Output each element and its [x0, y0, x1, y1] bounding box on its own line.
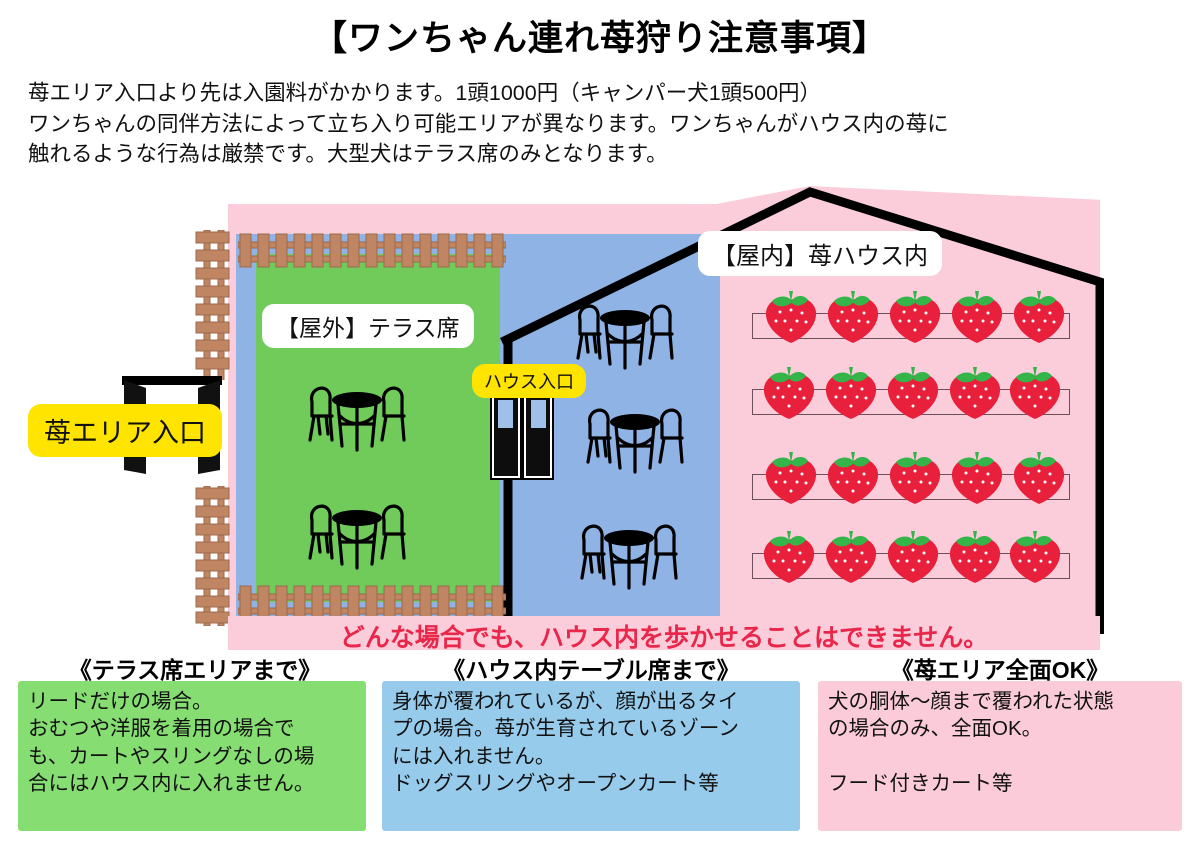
- strawberry-icon: [1008, 288, 1070, 344]
- strawberry-icon: [946, 449, 1008, 505]
- farm-map-diagram: 【屋外】テラス席 【屋内】苺ハウス内 苺エリア入口 ハウス入口: [0, 186, 1200, 656]
- strawberry-icon: [944, 364, 1006, 420]
- legend-line: [828, 743, 1174, 770]
- strawberry-icon: [820, 528, 882, 584]
- label-strawberry-area-entrance: 苺エリア入口: [28, 404, 222, 457]
- legend-body: 身体が覆われているが、顔が出るタイ プの場合。苺が生育されているゾーン には入れ…: [382, 686, 800, 797]
- house-door-icon: [490, 388, 554, 480]
- legend-body: リードだけの場合。 おむつや洋服を着用の場合で も、カートやスリングなしの場 合…: [18, 686, 366, 797]
- strawberry-icon: [1004, 364, 1066, 420]
- legend: 《テラス席エリアまで》 リードだけの場合。 おむつや洋服を着用の場合で も、カー…: [0, 656, 1200, 848]
- fence-top-icon: [238, 230, 506, 270]
- table-set-icon: [570, 506, 688, 594]
- intro-line-3: 触れるような行為は厳禁です。大型犬はテラス席のみとなります。: [28, 139, 1178, 170]
- strawberry-icon: [758, 528, 820, 584]
- strawberry-icon: [882, 528, 944, 584]
- strawberry-icon: [760, 288, 822, 344]
- strawberry-icon: [820, 364, 882, 420]
- fence-left-lower-icon: [192, 486, 232, 626]
- strawberry-icon: [944, 528, 1006, 584]
- strawberry-icon: [1004, 528, 1066, 584]
- legend-line: 犬の胴体〜顔まで覆われた状態: [828, 688, 1174, 715]
- legend-heading: 《テラス席エリアまで》: [24, 656, 366, 682]
- legend-line: リードだけの場合。: [28, 688, 358, 715]
- table-set-icon: [566, 286, 684, 374]
- strawberry-icon: [884, 449, 946, 505]
- strawberry-icon: [1008, 449, 1070, 505]
- legend-line: ドッグスリングやオープンカート等: [392, 770, 792, 797]
- page-title: 【ワンちゃん連れ苺狩り注意事項】: [0, 10, 1200, 61]
- strawberry-icon: [882, 364, 944, 420]
- legend-body: 犬の胴体〜顔まで覆われた状態 の場合のみ、全面OK。 フード付きカート等: [818, 686, 1182, 797]
- table-set-icon: [576, 390, 694, 478]
- legend-line: には入れません。: [392, 743, 792, 770]
- table-set-icon: [298, 368, 416, 456]
- strawberry-icon: [946, 288, 1008, 344]
- legend-line: プの場合。苺が生育されているゾーン: [392, 715, 792, 742]
- strawberry-icon: [822, 288, 884, 344]
- warning-text: どんな場合でも、ハウス内を歩かせることはできません。: [228, 618, 1100, 654]
- strawberry-icon: [758, 364, 820, 420]
- legend-line: の場合のみ、全面OK。: [828, 715, 1174, 742]
- label-outdoor-terrace: 【屋外】テラス席: [262, 304, 474, 348]
- fence-left-upper-icon: [192, 230, 232, 380]
- legend-line: フード付きカート等: [828, 770, 1174, 797]
- legend-card-indoor-tables: 《ハウス内テーブル席まで》 身体が覆われているが、顔が出るタイ プの場合。苺が生…: [382, 656, 800, 848]
- intro-text: 苺エリア入口より先は入園料がかかります。1頭1000円（キャンパー犬1頭500円…: [28, 78, 1178, 170]
- intro-line-2: ワンちゃんの同伴方法によって立ち入り可能エリアが異なります。ワンちゃんがハウス内…: [28, 109, 1178, 140]
- strawberry-icon: [760, 449, 822, 505]
- legend-line: も、カートやスリングなしの場: [28, 743, 358, 770]
- table-set-icon: [298, 486, 416, 574]
- legend-card-full-area: 《苺エリア全面OK》 犬の胴体〜顔まで覆われた状態 の場合のみ、全面OK。 フー…: [818, 656, 1182, 848]
- intro-line-1: 苺エリア入口より先は入園料がかかります。1頭1000円（キャンパー犬1頭500円…: [28, 78, 1178, 109]
- strawberry-icon: [884, 288, 946, 344]
- legend-line: 合にはハウス内に入れません。: [28, 770, 358, 797]
- legend-heading: 《ハウス内テーブル席まで》: [382, 656, 800, 682]
- legend-card-terrace: 《テラス席エリアまで》 リードだけの場合。 おむつや洋服を着用の場合で も、カー…: [18, 656, 366, 848]
- legend-heading: 《苺エリア全面OK》: [818, 656, 1182, 682]
- legend-line: 身体が覆われているが、顔が出るタイ: [392, 688, 792, 715]
- label-indoor-house: 【屋内】苺ハウス内: [698, 231, 942, 276]
- legend-line: おむつや洋服を着用の場合で: [28, 715, 358, 742]
- strawberry-icon: [822, 449, 884, 505]
